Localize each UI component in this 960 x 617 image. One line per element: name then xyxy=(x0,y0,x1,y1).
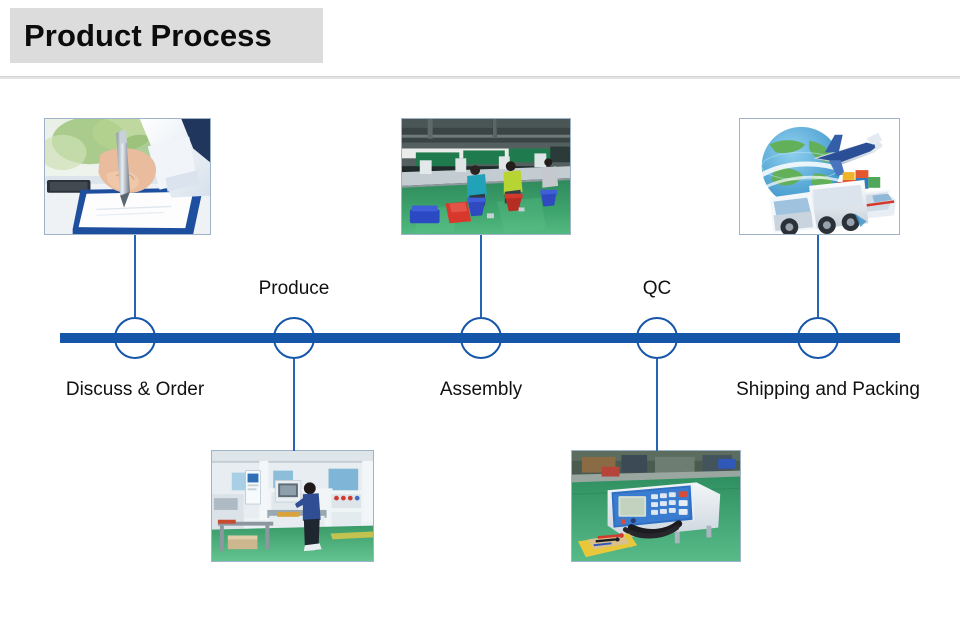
header-divider xyxy=(0,76,960,79)
qc-test-equipment-photo xyxy=(571,450,741,562)
timeline-label-qc: QC xyxy=(643,278,672,300)
timeline-node-qc[interactable] xyxy=(636,317,678,359)
timeline-node-discuss-order[interactable] xyxy=(114,317,156,359)
slide-canvas: Product Process xyxy=(0,0,960,617)
connector-qc xyxy=(656,359,658,451)
timeline-label-shipping-packing: Shipping and Packing xyxy=(736,379,920,401)
timeline-node-produce[interactable] xyxy=(273,317,315,359)
timeline-node-shipping-packing[interactable] xyxy=(797,317,839,359)
production-workshop-photo xyxy=(211,450,374,562)
connector-produce xyxy=(293,359,295,451)
connector-assembly xyxy=(480,235,482,317)
timeline-label-produce: Produce xyxy=(259,278,330,300)
connector-shipping-packing xyxy=(817,235,819,317)
signing-contract-photo xyxy=(44,118,211,235)
timeline-label-discuss-order: Discuss & Order xyxy=(66,379,204,401)
connector-discuss-order xyxy=(134,235,136,317)
logistics-shipping-photo xyxy=(739,118,900,235)
page-title-block: Product Process xyxy=(10,8,323,63)
timeline-label-assembly: Assembly xyxy=(440,379,522,401)
timeline-node-assembly[interactable] xyxy=(460,317,502,359)
assembly-line-photo xyxy=(401,118,571,235)
page-title: Product Process xyxy=(24,18,272,54)
